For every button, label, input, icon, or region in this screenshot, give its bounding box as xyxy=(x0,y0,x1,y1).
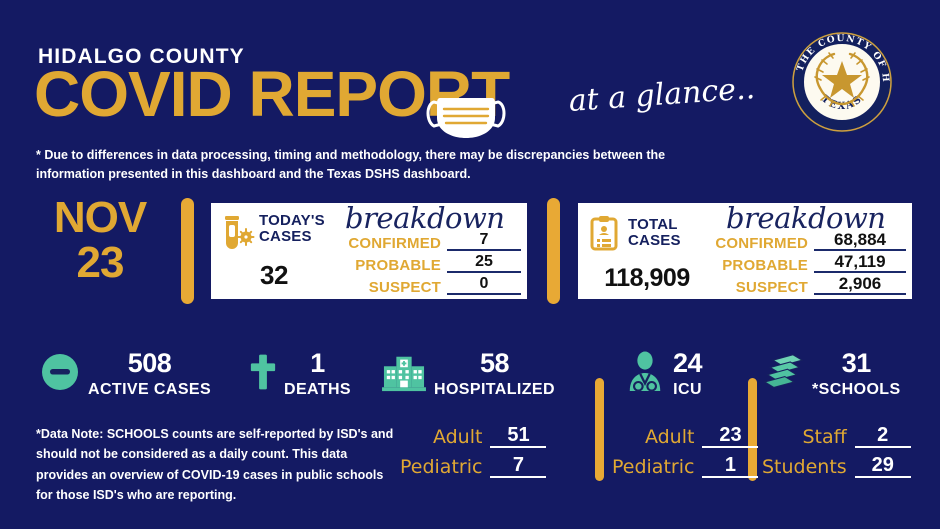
breakdown-row-probable: PROBABLE 25 xyxy=(343,251,521,273)
breakdown-row-pediatric: Pediatric 7 xyxy=(400,448,546,478)
data-note-text: *Data Note: SCHOOLS counts are self-repo… xyxy=(36,424,396,505)
icu-breakdown: Adult 23 Pediatric 1 xyxy=(612,418,758,478)
breakdown-row-confirmed: CONFIRMED 68,884 xyxy=(726,229,906,251)
total-cases-label-line2: CASES xyxy=(628,232,681,249)
cross-icon xyxy=(250,352,276,397)
breakdown-value: 1 xyxy=(702,455,758,478)
breakdown-label: SUSPECT xyxy=(736,280,814,295)
stat-active-cases: 508 ACTIVE CASES xyxy=(40,350,211,398)
total-cases-label: TOTAL CASES xyxy=(628,217,681,249)
breakdown-value: 51 xyxy=(490,425,546,448)
todays-cases-label-line2: CASES xyxy=(259,228,312,245)
breakdown-value: 2 xyxy=(855,425,911,448)
total-cases-label-line1: TOTAL xyxy=(628,216,678,233)
breakdown-label: Adult xyxy=(433,427,491,448)
breakdown-label: Pediatric xyxy=(400,457,490,478)
hospitalized-breakdown: Adult 51 Pediatric 7 xyxy=(400,418,546,478)
breakdown-label: PROBABLE xyxy=(355,258,447,273)
breakdown-value: 23 xyxy=(702,425,758,448)
breakdown-row-pediatric: Pediatric 1 xyxy=(612,448,758,478)
stat-number: 1 xyxy=(310,350,325,377)
todays-cases-breakdown: breakdown CONFIRMED 7 PROBABLE 25 SUSPEC… xyxy=(343,203,527,299)
breakdown-value: 68,884 xyxy=(814,231,906,251)
breakdown-row-adult: Adult 51 xyxy=(400,418,546,448)
breakdown-row-probable: PROBABLE 47,119 xyxy=(726,251,906,273)
todays-cases-total: 32 xyxy=(211,260,337,291)
breakdown-row-adult: Adult 23 xyxy=(612,418,758,448)
breakdown-label: CONFIRMED xyxy=(715,236,814,251)
stat-icu: 24 ICU xyxy=(625,350,702,398)
breakdown-value: 29 xyxy=(855,455,911,478)
breakdown-row-students: Students 29 xyxy=(762,448,911,478)
total-cases-summary: TOTAL CASES 118,909 xyxy=(578,203,726,299)
breakdown-value: 0 xyxy=(447,276,521,295)
breakdown-row-confirmed: CONFIRMED 7 xyxy=(343,229,521,251)
clipboard-icon xyxy=(588,215,622,251)
doctor-icon xyxy=(625,351,665,398)
todays-cases-summary: TODAY'S CASES 32 xyxy=(211,203,343,299)
test-tube-virus-icon xyxy=(221,215,255,251)
stat-schools: 31 *SCHOOLS xyxy=(762,350,901,398)
breakdown-row-staff: Staff 2 xyxy=(762,418,911,448)
breakdown-label: Students xyxy=(762,457,855,478)
breakdown-label: Adult xyxy=(645,427,703,448)
stat-number: 24 xyxy=(673,350,702,377)
breakdown-value: 7 xyxy=(447,232,521,251)
report-date: NOV 23 xyxy=(30,196,170,288)
breakdown-value: 7 xyxy=(490,455,546,478)
divider-bar-mid xyxy=(547,198,560,304)
breakdown-value: 47,119 xyxy=(814,253,906,273)
breakdown-label: CONFIRMED xyxy=(348,236,447,251)
total-cases-breakdown: breakdown CONFIRMED 68,884 PROBABLE 47,1… xyxy=(726,203,912,299)
report-date-day: 23 xyxy=(30,239,170,287)
face-mask-icon xyxy=(424,82,508,144)
minus-circle-icon xyxy=(40,352,80,397)
stacked-books-icon xyxy=(762,352,804,397)
stat-number: 508 xyxy=(128,350,172,377)
breakdown-label: Staff xyxy=(802,427,854,448)
divider-bar-hosp-icu xyxy=(595,378,604,481)
breakdown-row-suspect: SUSPECT 0 xyxy=(343,273,521,295)
breakdown-row-suspect: SUSPECT 2,906 xyxy=(726,273,906,295)
todays-cases-label-line1: TODAY'S xyxy=(259,212,325,229)
schools-breakdown: Staff 2 Students 29 xyxy=(762,418,911,478)
stat-deaths: 1 DEATHS xyxy=(250,350,351,398)
stat-label: ICU xyxy=(673,382,702,398)
total-cases-panel: TOTAL CASES 118,909 breakdown CONFIRMED … xyxy=(575,200,915,302)
breakdown-label: Pediatric xyxy=(612,457,702,478)
stat-hospitalized: 58 HOSPITALIZED xyxy=(382,350,555,398)
breakdown-value: 25 xyxy=(447,254,521,273)
hospital-icon xyxy=(382,351,426,398)
at-a-glance-text: at a glance.. xyxy=(568,71,757,119)
stat-label: HOSPITALIZED xyxy=(434,382,555,398)
breakdown-label: PROBABLE xyxy=(722,258,814,273)
disclaimer-text: * Due to differences in data processing,… xyxy=(36,146,736,185)
stat-label: ACTIVE CASES xyxy=(88,382,211,398)
todays-cases-label: TODAY'S CASES xyxy=(259,213,325,245)
county-seal: THE COUNTY OF HIDALGO TEXAS xyxy=(790,30,894,134)
stat-number: 31 xyxy=(842,350,871,377)
divider-bar-left xyxy=(181,198,194,304)
report-date-month: NOV xyxy=(30,196,170,239)
todays-cases-panel: TODAY'S CASES 32 breakdown CONFIRMED 7 P… xyxy=(208,200,530,302)
total-cases-total: 118,909 xyxy=(574,264,720,293)
stat-number: 58 xyxy=(480,350,509,377)
breakdown-label: SUSPECT xyxy=(369,280,447,295)
stat-label: *SCHOOLS xyxy=(812,382,901,398)
infographic-canvas: HIDALGO COUNTY COVID REPORT at a glance.… xyxy=(0,0,940,529)
stat-label: DEATHS xyxy=(284,382,351,398)
breakdown-value: 2,906 xyxy=(814,275,906,295)
